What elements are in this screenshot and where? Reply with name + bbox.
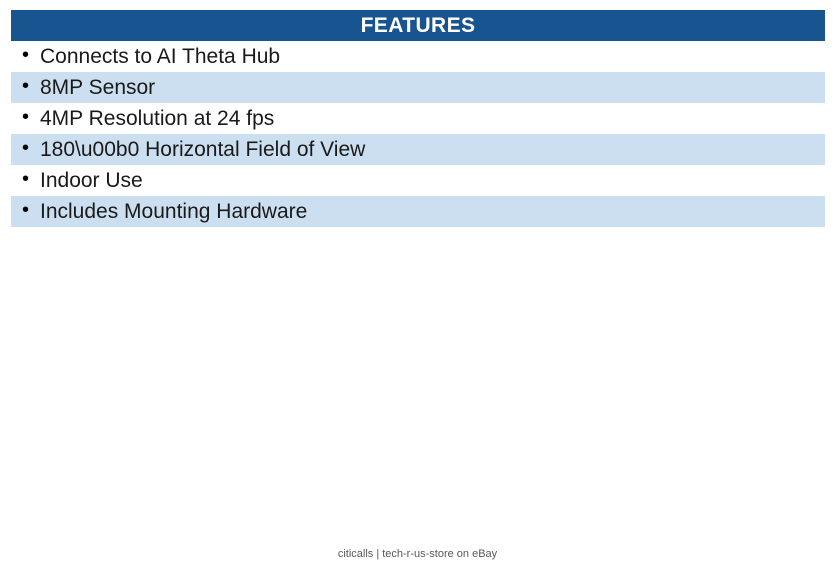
feature-text: 4MP Resolution at 24 fps xyxy=(40,108,274,129)
features-header-banner: FEATURES xyxy=(11,10,825,41)
bullet-icon: • xyxy=(11,107,40,130)
feature-row: •180\u00b0 Horizontal Field of View xyxy=(11,134,825,165)
feature-text: 8MP Sensor xyxy=(40,77,155,98)
feature-row: •Includes Mounting Hardware xyxy=(11,196,825,227)
bullet-icon: • xyxy=(11,169,40,192)
slide-footer: citicalls | tech-r-us-store on eBay xyxy=(0,548,835,560)
feature-text: Connects to AI Theta Hub xyxy=(40,46,280,67)
feature-text: Indoor Use xyxy=(40,170,143,191)
bullet-icon: • xyxy=(11,200,40,223)
bullet-icon: • xyxy=(11,138,40,161)
feature-row: •Indoor Use xyxy=(11,165,825,196)
features-list: •Connects to AI Theta Hub•8MP Sensor•4MP… xyxy=(11,41,825,227)
feature-text: Includes Mounting Hardware xyxy=(40,201,307,222)
page-title: FEATURES xyxy=(361,15,476,36)
feature-text: 180\u00b0 Horizontal Field of View xyxy=(40,139,365,160)
features-slide: FEATURES •Connects to AI Theta Hub•8MP S… xyxy=(0,0,835,573)
bullet-icon: • xyxy=(11,76,40,99)
feature-row: •4MP Resolution at 24 fps xyxy=(11,103,825,134)
bullet-icon: • xyxy=(11,45,40,68)
feature-row: •Connects to AI Theta Hub xyxy=(11,41,825,72)
feature-row: •8MP Sensor xyxy=(11,72,825,103)
